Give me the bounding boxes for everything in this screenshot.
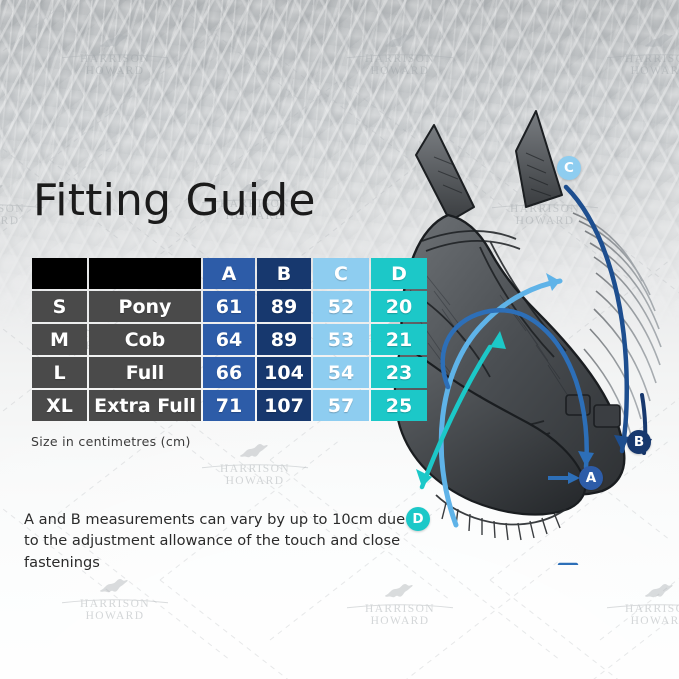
table-row: XL Extra Full 71 107 57 25 <box>32 390 427 421</box>
marker-b: B <box>627 430 651 454</box>
fitting-guide-page: HARRISON HOWARD HARRISON HOWARD HARRISON… <box>0 0 679 679</box>
cell-a: 71 <box>203 390 255 421</box>
mask-fastening-tab-2 <box>594 405 620 427</box>
cell-d: 25 <box>371 390 427 421</box>
cell-c: 54 <box>313 357 369 388</box>
table-row: L Full 66 104 54 23 <box>32 357 427 388</box>
cell-d: 20 <box>371 291 427 322</box>
fitting-size-table: A B C D S Pony 61 89 52 20 M Cob 64 89 5… <box>30 256 429 423</box>
table-row: S Pony 61 89 52 20 <box>32 291 427 322</box>
cell-a: 61 <box>203 291 255 322</box>
cell-b: 89 <box>257 324 311 355</box>
table-header-row: A B C D <box>32 258 427 289</box>
cell-a: 66 <box>203 357 255 388</box>
header-cell-size <box>32 258 87 289</box>
cell-size: S <box>32 291 87 322</box>
header-cell-d: D <box>371 258 427 289</box>
marker-a: A <box>579 466 603 490</box>
cell-c: 52 <box>313 291 369 322</box>
cell-name: Pony <box>89 291 201 322</box>
cell-c: 57 <box>313 390 369 421</box>
header-cell-a: A <box>203 258 255 289</box>
cell-b: 104 <box>257 357 311 388</box>
header-cell-c: C <box>313 258 369 289</box>
cell-a: 64 <box>203 324 255 355</box>
cell-d: 21 <box>371 324 427 355</box>
mask-fastening-tab-1 <box>566 395 590 415</box>
tolerance-note: A and B measurements can vary by up to 1… <box>24 509 424 573</box>
page-title: Fitting Guide <box>33 175 316 226</box>
header-cell-b: B <box>257 258 311 289</box>
cell-size: M <box>32 324 87 355</box>
horse-ear-left <box>416 125 474 221</box>
cell-b: 107 <box>257 390 311 421</box>
arrow-to-marker-a <box>548 470 582 486</box>
cell-size: L <box>32 357 87 388</box>
cell-size: XL <box>32 390 87 421</box>
header-cell-name <box>89 258 201 289</box>
cell-c: 53 <box>313 324 369 355</box>
marker-c: C <box>557 156 581 180</box>
table-row: M Cob 64 89 53 21 <box>32 324 427 355</box>
cell-b: 89 <box>257 291 311 322</box>
cell-name: Full <box>89 357 201 388</box>
cell-d: 23 <box>371 357 427 388</box>
cell-name: Extra Full <box>89 390 201 421</box>
units-note: Size in centimetres (cm) <box>31 434 191 449</box>
cell-name: Cob <box>89 324 201 355</box>
